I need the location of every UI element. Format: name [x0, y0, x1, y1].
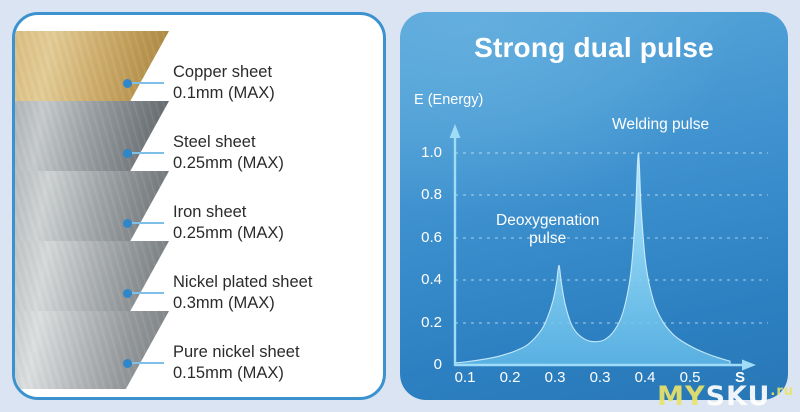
callout-dot-icon	[123, 219, 132, 228]
annotation-welding-pulse: Welding pulse	[612, 116, 709, 134]
callout-leader-line	[132, 82, 164, 84]
callout-iron-sheet: Iron sheet 0.25mm (MAX)	[123, 202, 284, 245]
materials-panel: Copper sheet 0.1mm (MAX) Steel sheet 0.2…	[12, 12, 386, 400]
chart-axes	[455, 134, 746, 365]
callout-dot-icon	[123, 359, 132, 368]
callout-leader-line	[132, 292, 164, 294]
sheet-name: Iron sheet	[173, 202, 284, 223]
watermark-part-ru: .ru	[770, 384, 794, 399]
callout-copper-sheet: Copper sheet 0.1mm (MAX)	[123, 62, 275, 105]
annotation-deoxy-line1: Deoxygenation	[496, 212, 599, 229]
sheet-thickness: 0.15mm (MAX)	[173, 363, 300, 384]
callout-text: Pure nickel sheet 0.15mm (MAX)	[173, 342, 300, 385]
sheet-name: Pure nickel sheet	[173, 342, 300, 363]
mysku-watermark: MYSKU.ru	[657, 383, 794, 410]
callout-text: Copper sheet 0.1mm (MAX)	[173, 62, 275, 105]
sheet-name: Copper sheet	[173, 62, 275, 83]
sheet-thickness: 0.3mm (MAX)	[173, 293, 312, 314]
callout-leader-line	[132, 222, 164, 224]
y-axis-arrow-icon	[450, 124, 461, 138]
callout-leader-line	[132, 152, 164, 154]
y-tick-0-8: 0.8	[408, 186, 442, 203]
pulse-plot-svg	[400, 12, 788, 400]
watermark-part-my: MY	[657, 381, 705, 412]
sheet-name: Nickel plated sheet	[173, 272, 312, 293]
x-tick-4: 0.3	[580, 369, 620, 386]
watermark-part-sku: SKU	[706, 381, 771, 412]
infographic-stage: Copper sheet 0.1mm (MAX) Steel sheet 0.2…	[0, 0, 800, 412]
sheet-name: Steel sheet	[173, 132, 284, 153]
x-tick-1: 0.1	[445, 369, 485, 386]
y-tick-0-2: 0.2	[408, 314, 442, 331]
y-tick-1-0: 1.0	[408, 144, 442, 161]
callout-dot-icon	[123, 149, 132, 158]
callout-nickel-plated-sheet: Nickel plated sheet 0.3mm (MAX)	[123, 272, 312, 315]
callout-text: Steel sheet 0.25mm (MAX)	[173, 132, 284, 175]
x-tick-2: 0.2	[490, 369, 530, 386]
callout-leader-line	[132, 362, 164, 364]
pulse-chart-panel: Strong dual pulse E (Energy)	[400, 12, 788, 400]
callout-steel-sheet: Steel sheet 0.25mm (MAX)	[123, 132, 284, 175]
x-tick-3: 0.3	[535, 369, 575, 386]
y-tick-0-6: 0.6	[408, 229, 442, 246]
callout-text: Nickel plated sheet 0.3mm (MAX)	[173, 272, 312, 315]
callout-dot-icon	[123, 79, 132, 88]
sheet-thickness: 0.1mm (MAX)	[173, 83, 275, 104]
annotation-welding-line1: Welding pulse	[612, 116, 709, 133]
y-tick-0: 0	[408, 356, 442, 373]
sheet-thickness: 0.25mm (MAX)	[173, 153, 284, 174]
annotation-deoxy-line2: pulse	[529, 230, 566, 247]
callout-dot-icon	[123, 289, 132, 298]
y-tick-0-4: 0.4	[408, 271, 442, 288]
pulse-area-fill	[455, 153, 730, 365]
sheet-thickness: 0.25mm (MAX)	[173, 223, 284, 244]
annotation-deoxygenation-pulse: Deoxygenation pulse	[496, 212, 599, 248]
callout-pure-nickel-sheet: Pure nickel sheet 0.15mm (MAX)	[123, 342, 300, 385]
pulse-plot	[400, 12, 788, 400]
sheet-callouts: Copper sheet 0.1mm (MAX) Steel sheet 0.2…	[15, 15, 383, 397]
callout-text: Iron sheet 0.25mm (MAX)	[173, 202, 284, 245]
